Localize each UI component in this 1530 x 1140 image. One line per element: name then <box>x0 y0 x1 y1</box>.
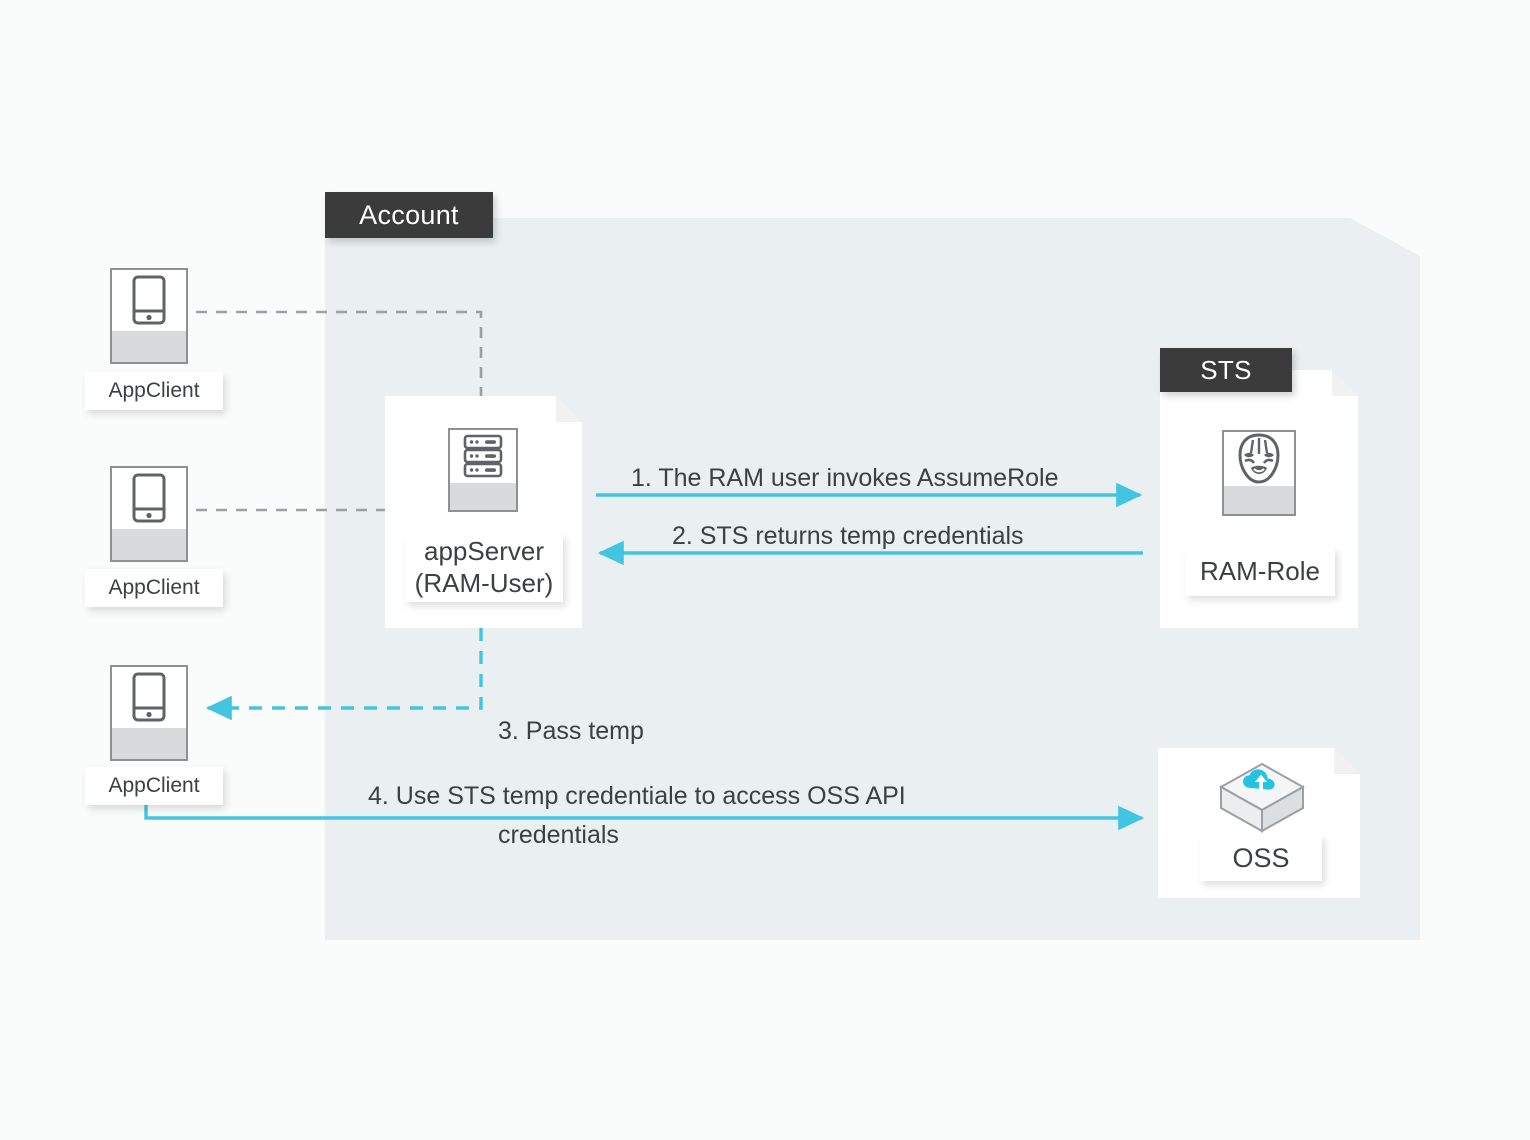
appclient-2-label-plate: AppClient <box>85 569 223 607</box>
oss-bucket-cloud-icon <box>1216 760 1308 836</box>
step-2-label: 2. STS returns temp credentials <box>672 519 1024 554</box>
step-1-label: 1. The RAM user invokes AssumeRole <box>631 461 1059 496</box>
diagram-canvas: Account AppClient AppClient <box>0 0 1530 1140</box>
tile-base-band <box>112 331 186 362</box>
mobile-device-icon <box>112 667 186 728</box>
appserver-label-line2: (RAM-User) <box>415 568 554 600</box>
appclient-2-icon-tile <box>110 466 188 562</box>
ram-role-label: RAM-Role <box>1200 556 1320 588</box>
appclient-2-label: AppClient <box>108 575 199 601</box>
step-3-label-line2: credentials <box>498 818 644 853</box>
account-badge-label: Account <box>359 200 459 231</box>
server-rack-glyph <box>463 434 503 478</box>
appserver-label-plate: appServer (RAM-User) <box>405 534 563 602</box>
step-4-label: 4. Use STS temp credentiale to access OS… <box>368 779 906 814</box>
appserver-label-line1: appServer <box>424 536 544 568</box>
server-rack-icon <box>450 430 516 483</box>
oss-label-plate: OSS <box>1200 835 1322 881</box>
account-badge: Account <box>325 192 493 238</box>
oss-label: OSS <box>1232 842 1289 875</box>
tile-base-band <box>112 529 186 560</box>
mobile-device-glyph <box>132 473 166 523</box>
oss-bucket-glyph <box>1216 760 1308 836</box>
ram-role-label-plate: RAM-Role <box>1185 548 1335 596</box>
tile-base-band <box>1224 486 1294 514</box>
sts-badge-label: STS <box>1200 355 1251 386</box>
appclient-3-label-plate: AppClient <box>85 767 223 805</box>
mobile-device-icon <box>112 270 186 331</box>
mobile-device-glyph <box>132 672 166 722</box>
opera-mask-icon <box>1224 432 1294 486</box>
tile-base-band <box>112 728 186 759</box>
appclient-1-label-plate: AppClient <box>85 372 223 410</box>
sts-badge: STS <box>1160 348 1292 392</box>
mobile-device-icon <box>112 468 186 529</box>
step-3-label-line1: 3. Pass temp <box>498 714 644 749</box>
appclient-1-label: AppClient <box>108 378 199 404</box>
appclient-3-icon-tile <box>110 665 188 761</box>
opera-mask-glyph <box>1237 434 1281 484</box>
appclient-3-label: AppClient <box>108 773 199 799</box>
mobile-device-glyph <box>132 275 166 325</box>
ram-role-icon-tile <box>1222 430 1296 516</box>
appserver-icon-tile <box>448 428 518 512</box>
appclient-1-icon-tile <box>110 268 188 364</box>
tile-base-band <box>450 483 516 510</box>
